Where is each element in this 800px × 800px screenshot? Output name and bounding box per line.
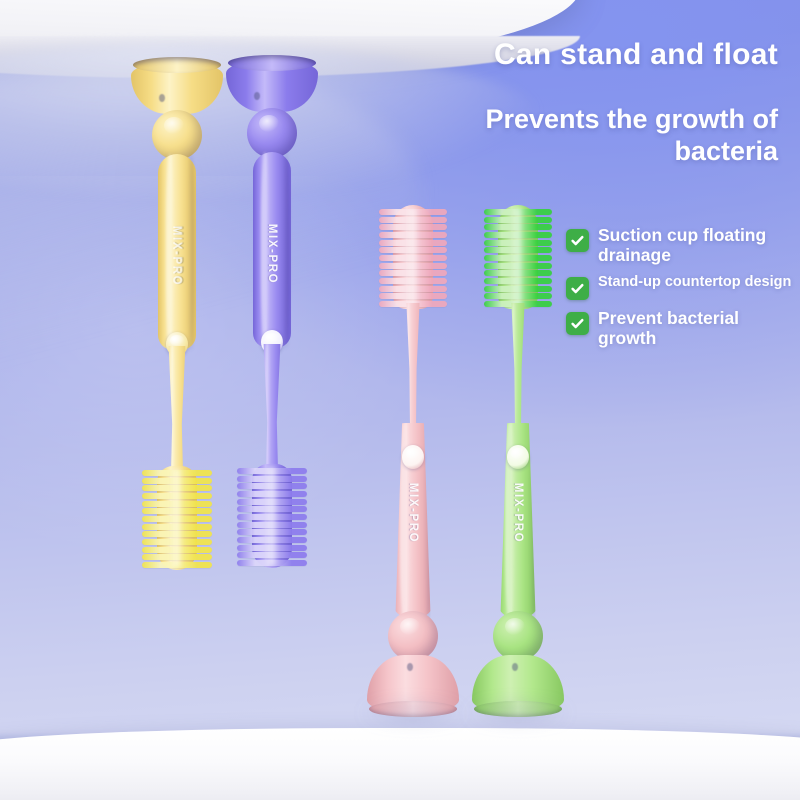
purple-hanging-toothbrush: MIX-PRO <box>212 60 332 594</box>
brand-logo: MIX-PRO <box>266 224 278 284</box>
handle-neck <box>503 303 533 429</box>
suction-cup <box>226 60 318 112</box>
handle-neck <box>162 346 192 472</box>
suction-cup <box>131 62 223 114</box>
list-item: Suction cup floating drainage <box>566 226 798 265</box>
handle-neck <box>257 344 287 470</box>
brush-head <box>148 466 206 570</box>
page-title: Can stand and float <box>494 38 778 71</box>
brush-head <box>490 205 546 309</box>
contact-shadow <box>361 705 465 721</box>
list-item: Stand-up countertop design <box>566 274 798 300</box>
feature-list: Suction cup floating drainage Stand-up c… <box>566 226 798 357</box>
ball-joint <box>247 108 297 158</box>
suction-cup-rim <box>133 57 221 73</box>
ball-joint <box>388 611 438 661</box>
handle-button <box>402 445 424 469</box>
pink-standing-toothbrush: MIX-PRO <box>353 205 473 765</box>
contact-shadow <box>466 705 570 721</box>
product-promo-image: Can stand and float Prevents the growth … <box>0 0 800 800</box>
brand-logo: MIX-PRO <box>407 483 419 543</box>
feature-label: Prevent bacterial growth <box>598 309 798 348</box>
brand-logo: MIX-PRO <box>171 226 183 286</box>
green-standing-toothbrush: MIX-PRO <box>458 205 578 765</box>
feature-label: Suction cup floating drainage <box>598 226 798 265</box>
ball-joint <box>152 110 202 160</box>
air-hole <box>159 94 165 102</box>
air-hole <box>254 92 260 100</box>
handle-grip: MIX-PRO <box>253 152 291 348</box>
brush-head <box>243 464 301 568</box>
handle-grip: MIX-PRO <box>158 154 196 350</box>
ball-joint <box>493 611 543 661</box>
suction-cup-rim <box>228 55 316 71</box>
list-item: Prevent bacterial growth <box>566 309 798 348</box>
brush-head <box>385 205 441 309</box>
feature-label: Stand-up countertop design <box>598 274 791 290</box>
handle-button <box>507 445 529 469</box>
brand-logo: MIX-PRO <box>512 483 524 543</box>
subheadline: Prevents the growth of bacteria <box>378 104 778 167</box>
handle-neck <box>398 303 428 429</box>
